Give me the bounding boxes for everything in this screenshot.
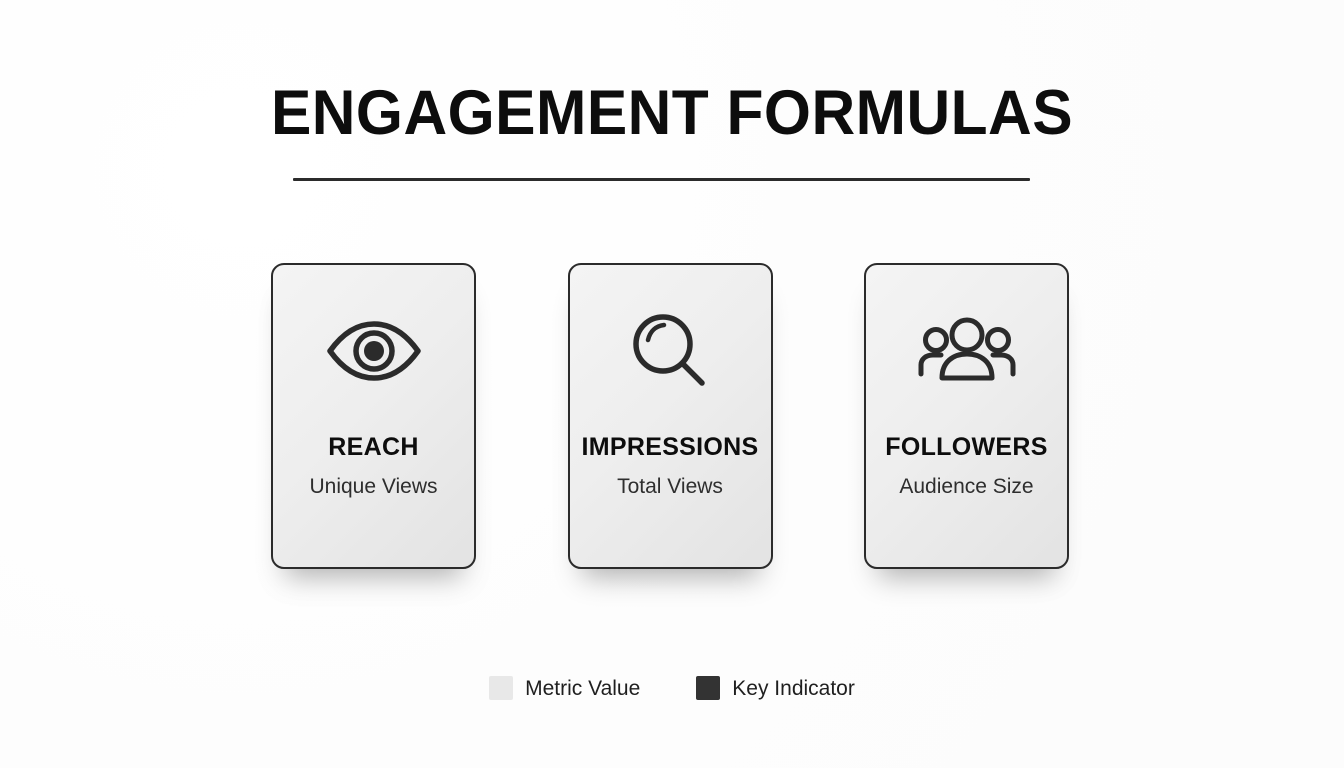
magnifier-icon xyxy=(628,309,712,393)
card-title: REACH xyxy=(273,434,474,462)
legend-swatch-key-indicator xyxy=(696,676,720,700)
legend-label: Metric Value xyxy=(525,678,640,699)
title-underline-rule xyxy=(293,178,1030,181)
metric-card-impressions[interactable]: IMPRESSIONS Total Views xyxy=(568,263,773,569)
card-subtitle: Unique Views xyxy=(273,475,474,498)
legend-swatch-metric-value xyxy=(489,676,513,700)
page-title: ENGAGEMENT FORMULAS xyxy=(27,82,1317,145)
metric-cards-row: REACH Unique Views IMPRESSIONS Total Vie… xyxy=(271,263,1069,569)
legend-item-key-indicator: Key Indicator xyxy=(696,676,855,700)
card-text-followers: FOLLOWERS Audience Size xyxy=(866,434,1067,498)
card-text-reach: REACH Unique Views xyxy=(273,434,474,498)
card-subtitle: Total Views xyxy=(570,475,771,498)
slide-canvas: ENGAGEMENT FORMULAS REACH Unique Views xyxy=(0,0,1344,768)
card-title: FOLLOWERS xyxy=(866,434,1067,462)
card-text-impressions: IMPRESSIONS Total Views xyxy=(570,434,771,498)
metric-card-followers[interactable]: FOLLOWERS Audience Size xyxy=(864,263,1069,569)
people-group-icon xyxy=(917,309,1017,393)
legend-label: Key Indicator xyxy=(732,678,855,699)
legend: Metric Value Key Indicator xyxy=(0,676,1344,700)
metric-card-reach[interactable]: REACH Unique Views xyxy=(271,263,476,569)
title-block: ENGAGEMENT FORMULAS xyxy=(0,82,1344,145)
legend-item-metric-value: Metric Value xyxy=(489,676,640,700)
card-subtitle: Audience Size xyxy=(866,475,1067,498)
eye-icon xyxy=(325,309,423,393)
card-title: IMPRESSIONS xyxy=(570,434,771,462)
